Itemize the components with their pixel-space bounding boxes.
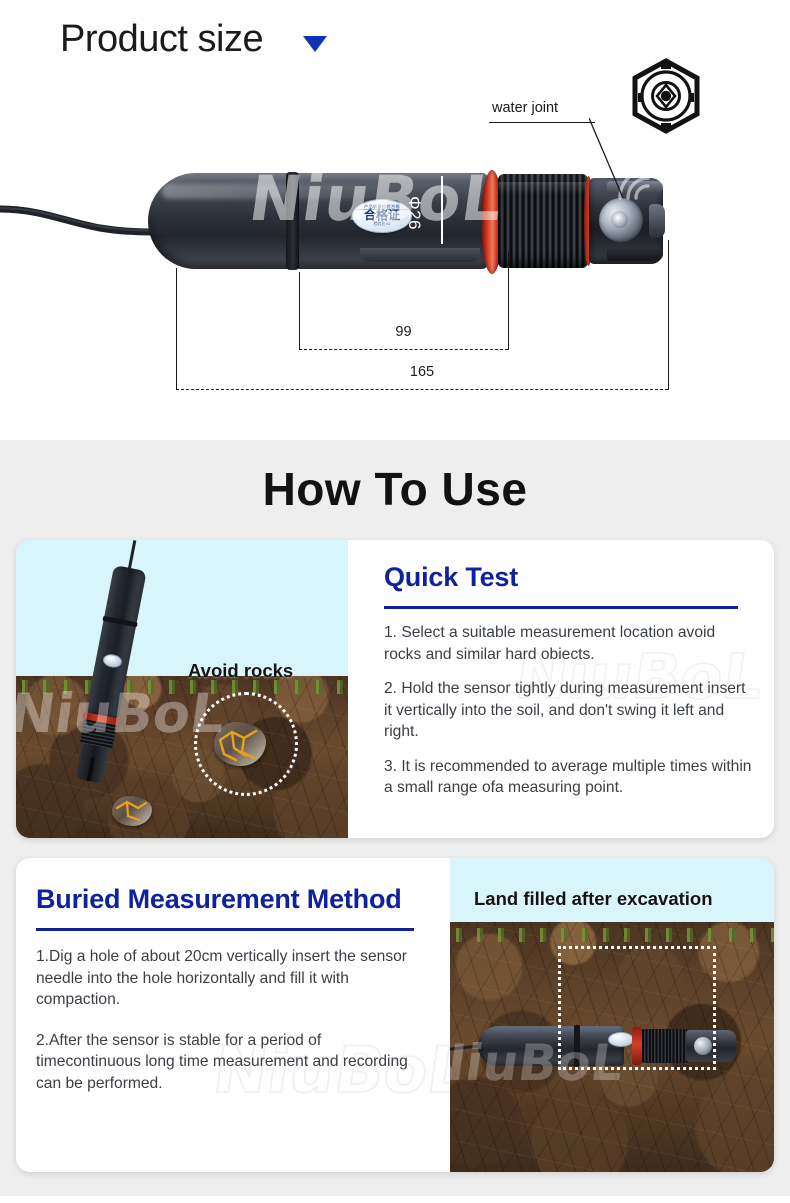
heading-rule	[36, 928, 414, 931]
extension-line-probe-right	[508, 252, 509, 350]
buried-measurement-text-panel: Buried Measurement Method 1.Dig a hole o…	[16, 858, 450, 1172]
product-page: Product size	[0, 0, 790, 1203]
quick-test-text-panel: Quick Test 1. Select a suitable measurem…	[348, 540, 774, 838]
quick-test-steps: 1. Select a suitable measurement locatio…	[384, 622, 752, 812]
dotted-rectangle-highlight-icon	[558, 946, 716, 1070]
section-title: How To Use	[0, 462, 790, 516]
photo-caption: Avoid rocks	[188, 660, 293, 682]
list-item: 1. Select a suitable measurement locatio…	[384, 622, 752, 665]
hex-nut-end-view-icon	[630, 58, 702, 134]
water-joint-label-rule	[489, 122, 595, 123]
triangle-down-icon	[303, 36, 327, 52]
electrode-tip	[649, 204, 665, 238]
card-heading: Buried Measurement Method	[36, 884, 402, 915]
page-footer-strip	[0, 1196, 790, 1203]
electrode-bulb-core	[611, 211, 628, 228]
rock-secondary	[112, 796, 152, 826]
water-joint-label: water joint	[492, 100, 558, 116]
list-item: 2.After the sensor is stable for a perio…	[36, 1030, 428, 1095]
list-item: 3. It is recommended to average multiple…	[384, 756, 752, 799]
sensor-threaded-section	[498, 174, 588, 268]
quick-test-photo: Avoid rocks NiuBoL	[16, 540, 348, 838]
page-title: Product size	[60, 18, 263, 61]
buried-measurement-steps: 1.Dig a hole of about 20cm vertically in…	[36, 946, 428, 1107]
list-item: 1.Dig a hole of about 20cm vertically in…	[36, 946, 428, 1011]
barrel-ring-joint	[286, 172, 299, 270]
barrel-seam	[360, 248, 480, 262]
heading-rule	[384, 606, 738, 609]
dimension-line-total-length	[176, 389, 668, 390]
how-to-use-section: How To Use	[0, 440, 790, 1196]
rock-vein-overlay-icon	[214, 722, 266, 766]
sensor-cable	[0, 202, 152, 238]
diameter-label: Φ26	[404, 196, 424, 230]
certificate-sticker: 产品质量检验合格 合格证 检验员 01	[352, 199, 412, 233]
product-size-section: Product size	[0, 0, 790, 440]
water-joint-leader-line	[589, 118, 625, 200]
product-dimension-drawing: 产品质量检验合格 合格证 检验员 01 NiuBoL	[0, 150, 790, 300]
dimension-line-probe-length	[299, 349, 508, 350]
sticker-main-text: 合格证	[364, 209, 400, 222]
quick-test-card: Avoid rocks NiuBoL Quick Test 1. Select …	[16, 540, 774, 838]
list-item: 2. Hold the sensor tightly during measur…	[384, 678, 752, 743]
dimension-value-probe-length: 99	[299, 324, 508, 340]
card-heading: Quick Test	[384, 562, 518, 593]
sticker-bottom-text: 检验员 01	[374, 223, 391, 227]
diameter-leader-line	[441, 176, 443, 244]
photo-grass-line	[450, 928, 774, 942]
photo-sky	[16, 540, 348, 690]
photo-soil	[16, 676, 348, 838]
extension-line-total-right	[668, 240, 669, 390]
buried-measurement-card: Buried Measurement Method 1.Dig a hole o…	[16, 858, 774, 1172]
rock-vein-overlay-secondary-icon	[112, 796, 152, 826]
photo-caption: Land filled after excavation	[474, 888, 713, 910]
electrode-prong-bottom	[607, 247, 663, 261]
rock-highlighted	[214, 722, 266, 766]
dimension-value-total-length: 165	[176, 364, 668, 380]
buried-measurement-photo: Land filled after excavation NiuBoL	[450, 858, 774, 1172]
photo-grass-line	[16, 680, 348, 694]
